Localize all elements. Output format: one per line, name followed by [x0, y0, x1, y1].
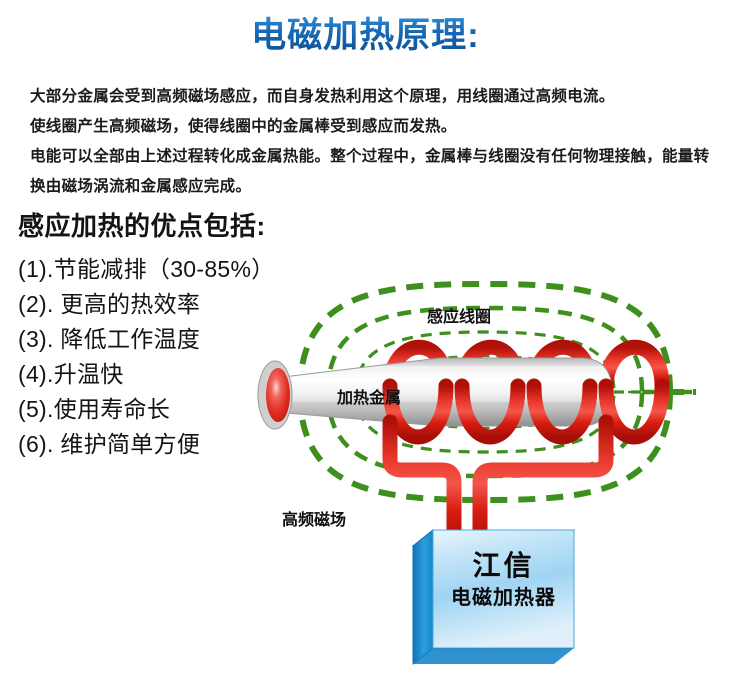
intro-paragraph: 大部分金属会受到高频磁场感应，而自身发热利用这个原理，用线圈通过高频电流。 使线… [30, 82, 720, 202]
box-brand-label: 江信 [433, 544, 574, 584]
page-title: 电磁加热原理: [0, 14, 731, 58]
intro-line-2: 使线圈产生高频磁场，使得线圈中的金属棒受到感应而发热。 [30, 112, 720, 142]
label-induction-coil: 感应线圈 [427, 303, 491, 327]
page-root: 电磁加热原理: 大部分金属会受到高频磁场感应，而自身发热利用这个原理，用线圈通过… [0, 0, 731, 675]
intro-line-1: 大部分金属会受到高频磁场感应，而自身发热利用这个原理，用线圈通过高频电流。 [30, 82, 720, 112]
label-heated-metal: 加热金属 [337, 384, 401, 408]
benefits-heading: 感应加热的优点包括: [18, 209, 266, 243]
box-product-label: 电磁加热器 [433, 581, 574, 610]
induction-heating-diagram: 感应线圈 加热金属 高频磁场 江信 电磁加热器 [240, 262, 731, 675]
intro-line-3: 电能可以全部由上述过程转化成金属热能。整个过程中，金属棒与线圈没有任何物理接触，… [30, 142, 718, 202]
label-magnetic-field: 高频磁场 [282, 506, 346, 530]
